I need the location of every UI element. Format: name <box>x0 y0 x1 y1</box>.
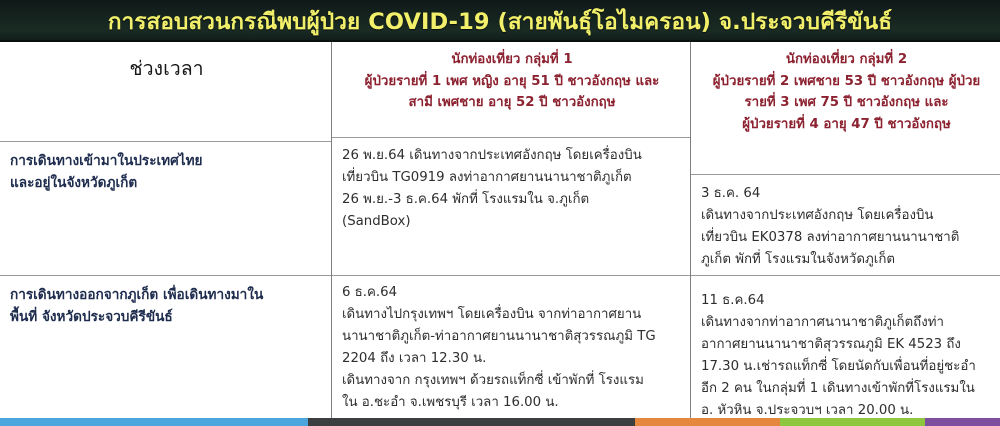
header-cell-time-period: ช่วงเวลา <box>0 42 331 142</box>
header-group-1-line-2: สามี เพศชาย อายุ 52 ปี ชาวอังกฤษ <box>342 92 682 114</box>
row-2-time-line-2: พื้นที่ จังหวัดประจวบคีรีขันธ์ <box>10 306 323 328</box>
row-2-group-1-line-4: 2204 ถึง เวลา 12.30 น. <box>342 348 682 370</box>
row-1-group-2-line-4: ภูเก็ต พักที่ โรงแรมในจังหวัดภูเก็ต <box>701 249 992 271</box>
row-1-time-period: การเดินทางเข้ามาในประเทศไทย และอยู่ในจัง… <box>0 142 331 276</box>
row-1-time-line-1: การเดินทางเข้ามาในประเทศไทย <box>10 150 323 172</box>
header-group-2-line-3: ผู้ป่วยรายที่ 4 อายุ 47 ปี ชาวอังกฤษ <box>701 114 992 136</box>
row-1-group-1: 26 พ.ย.64 เดินทางจากประเทศอังกฤษ โดยเครื… <box>332 138 690 276</box>
column-tourist-group-2: นักท่องเที่ยว กลุ่มที่ 2 ผู้ป่วยรายที่ 2… <box>690 42 1000 418</box>
segment-green <box>780 418 925 426</box>
row-1-group-2-line-1: 3 ธ.ค. 64 <box>701 183 992 205</box>
header-group-2-line-1: ผู้ป่วยรายที่ 2 เพศชาย 53 ปี ชาวอังกฤษ ผ… <box>713 74 980 89</box>
investigation-table: ช่วงเวลา การเดินทางเข้ามาในประเทศไทย และ… <box>0 42 1000 418</box>
column-tourist-group-1: นักท่องเที่ยว กลุ่มที่ 1 ผู้ป่วยรายที่ 1… <box>331 42 690 418</box>
bottom-color-strip <box>0 418 1000 426</box>
header-label-time-period: ช่วงเวลา <box>129 56 203 82</box>
column-time-period: ช่วงเวลา การเดินทางเข้ามาในประเทศไทย และ… <box>0 42 331 418</box>
row-1-time-line-2: และอยู่ในจังหวัดภูเก็ต <box>10 172 323 194</box>
segment-orange <box>635 418 780 426</box>
row-1-group-1-line-3: 26 พ.ย.-3 ธ.ค.64 พักที่ โรงแรมใน จ.ภูเก็… <box>342 189 682 211</box>
row-2-group-2: 11 ธ.ค.64 เดินทางจากท่าอากาศนานาชาติภูเก… <box>691 276 1000 418</box>
row-1-group-1-line-2: เที่ยวบิน TG0919 ลงท่าอากาศยานนานาชาติภู… <box>342 167 682 189</box>
header-group-1-line-1: ผู้ป่วยรายที่ 1 เพศ หญิง อายุ 51 ปี ชาวอ… <box>365 74 660 89</box>
page-title: การสอบสวนกรณีพบผู้ป่วย COVID-19 (สายพันธ… <box>0 7 1000 37</box>
row-1-group-1-line-1: 26 พ.ย.64 เดินทางจากประเทศอังกฤษ โดยเครื… <box>342 145 682 167</box>
segment-dark <box>308 418 635 426</box>
row-2-group-2-line-1: 11 ธ.ค.64 <box>701 290 992 312</box>
row-2-group-1-line-1: 6 ธ.ค.64 <box>342 282 682 304</box>
row-1-group-2-line-2: เดินทางจากประเทศอังกฤษ โดยเครื่องบิน <box>701 205 992 227</box>
header-group-2-line-2: รายที่ 3 เพศ 75 ปี ชาวอังกฤษ และ <box>701 92 992 114</box>
segment-blue <box>0 418 308 426</box>
row-1-group-1-line-4: (SandBox) <box>342 211 682 233</box>
header-group-2-title: นักท่องเที่ยว กลุ่มที่ 2 <box>701 49 992 71</box>
row-1-group-2-line-3: เที่ยวบิน EK0378 ลงท่าอากาศยานนานาชาติ <box>701 227 992 249</box>
header-cell-group-1: นักท่องเที่ยว กลุ่มที่ 1 ผู้ป่วยรายที่ 1… <box>332 42 690 138</box>
row-2-time-period: การเดินทางออกจากภูเก็ต เพื่อเดินทางมาใน … <box>0 276 331 418</box>
row-2-group-1-line-3: นานาชาติภูเก็ต-ท่าอากาศยานนานาชาติสุวรรณ… <box>342 326 682 348</box>
header-cell-group-2: นักท่องเที่ยว กลุ่มที่ 2 ผู้ป่วยรายที่ 2… <box>691 42 1000 175</box>
row-2-group-1: 6 ธ.ค.64 เดินทางไปกรุงเทพฯ โดยเครื่องบิน… <box>332 276 690 418</box>
row-2-group-2-line-5: อีก 2 คน ในกลุ่มที่ 1 เดินทางเข้าพักที่โ… <box>701 378 992 400</box>
title-banner: การสอบสวนกรณีพบผู้ป่วย COVID-19 (สายพันธ… <box>0 0 1000 42</box>
row-2-group-1-line-5: เดินทางจาก กรุงเทพฯ ด้วยรถแท็กซี่ เข้าพั… <box>342 370 682 392</box>
row-2-group-1-line-2: เดินทางไปกรุงเทพฯ โดยเครื่องบิน จากท่าอา… <box>342 304 682 326</box>
row-2-group-2-line-3: อากาศยานนานาชาติสุวรรณภูมิ EK 4523 ถึง <box>701 334 992 356</box>
segment-purple <box>925 418 1000 426</box>
header-group-1-title: นักท่องเที่ยว กลุ่มที่ 1 <box>342 49 682 71</box>
row-2-time-line-1: การเดินทางออกจากภูเก็ต เพื่อเดินทางมาใน <box>10 284 323 306</box>
row-2-group-1-line-6: ใน อ.ชะอำ จ.เพชรบุรี เวลา 16.00 น. <box>342 392 682 414</box>
row-2-group-2-line-4: 17.30 น.เช่ารถแท็กซี่ โดยนัดกับเพื่อนที่… <box>701 356 992 378</box>
row-1-group-2: 3 ธ.ค. 64 เดินทางจากประเทศอังกฤษ โดยเครื… <box>691 175 1000 276</box>
row-2-group-2-line-2: เดินทางจากท่าอากาศนานาชาติภูเก็ตถึงท่า <box>701 312 992 334</box>
